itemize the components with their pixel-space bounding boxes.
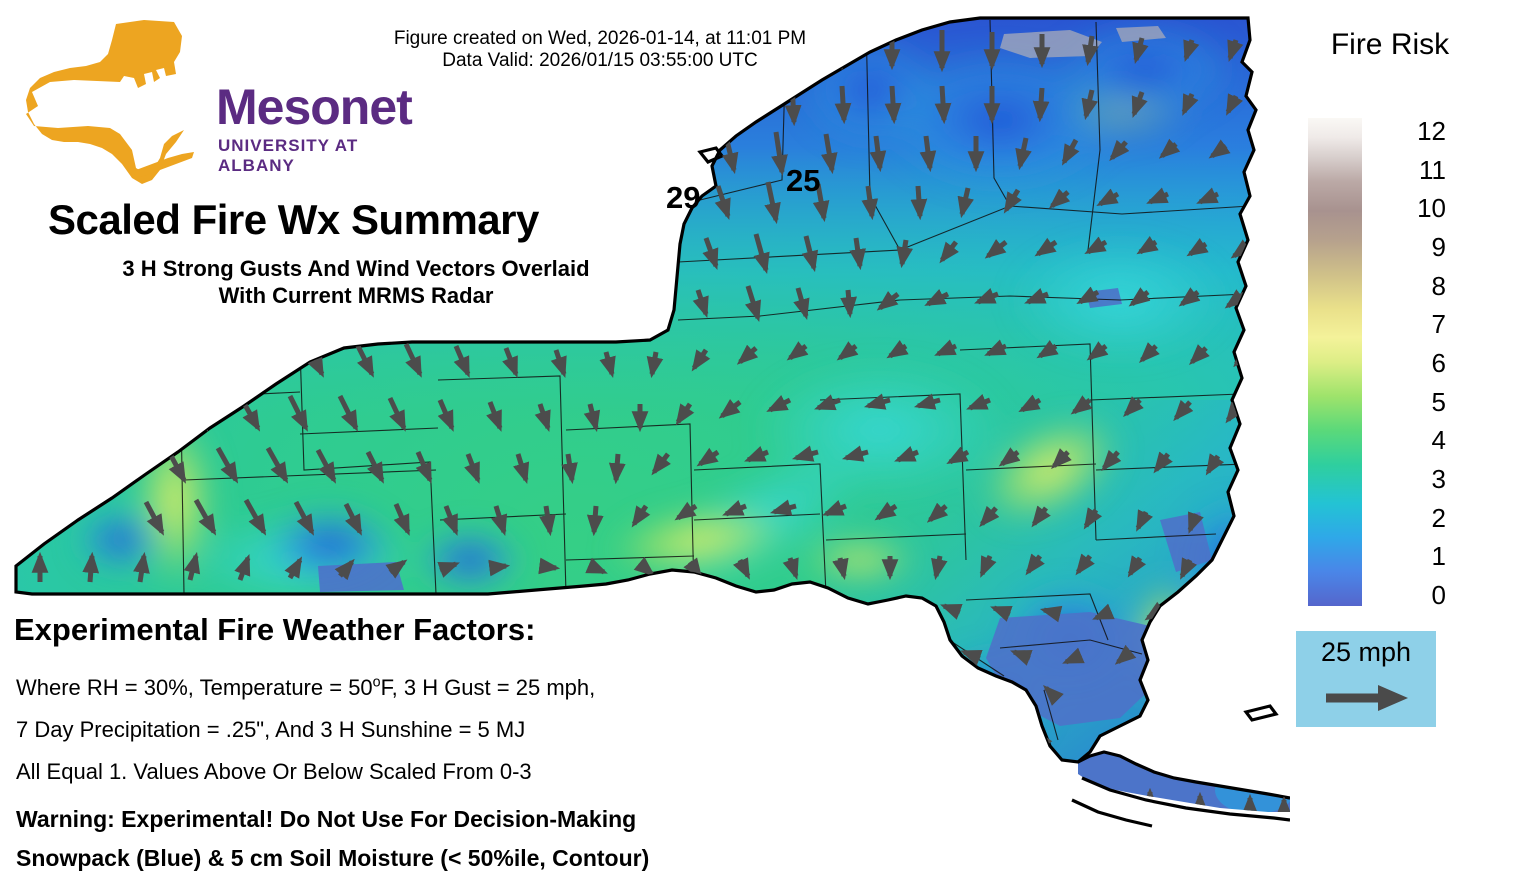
colorbar-tick-11: 11 [1419, 157, 1446, 183]
colorbar-title: Fire Risk [1290, 28, 1490, 62]
figure-timestamp: Figure created on Wed, 2026-01-14, at 11… [330, 28, 870, 72]
fire-risk-colorbar [1308, 118, 1362, 606]
gust-label-29: 29 [666, 180, 700, 216]
factors-line-3: All Equal 1. Values Above Or Below Scale… [16, 759, 532, 785]
colorbar-tick-2: 2 [1432, 505, 1446, 531]
page-title: Scaled Fire Wx Summary [48, 196, 539, 244]
wind-arrow-icon [1324, 683, 1410, 713]
colorbar-tick-6: 6 [1432, 350, 1446, 376]
factors-heading: Experimental Fire Weather Factors: [14, 612, 535, 648]
gust-label-25: 25 [786, 163, 820, 199]
subtitle-line-2: With Current MRMS Radar [46, 282, 666, 309]
colorbar-tick-3: 3 [1432, 466, 1446, 492]
colorbar-tick-1: 1 [1432, 543, 1446, 569]
data-valid-line: Data Valid: 2026/01/15 03:55:00 UTC [330, 50, 870, 72]
colorbar-tick-9: 9 [1432, 234, 1446, 260]
figure-created-line: Figure created on Wed, 2026-01-14, at 11… [330, 28, 870, 50]
factors-line-1b: F, 3 H Gust = 25 mph, [381, 675, 596, 700]
subtitle-line-1: 3 H Strong Gusts And Wind Vectors Overla… [46, 255, 666, 282]
logo-nys-text: NYS [114, 83, 208, 138]
degree-superscript: o [373, 675, 381, 691]
colorbar-tick-4: 4 [1432, 427, 1446, 453]
colorbar-tick-10: 10 [1417, 195, 1446, 221]
logo-university-text: UNIVERSITY AT ALBANY [218, 136, 394, 176]
warning-line-2: Snowpack (Blue) & 5 cm Soil Moisture (< … [16, 845, 649, 872]
warning-line-1: Warning: Experimental! Do Not Use For De… [16, 806, 636, 833]
colorbar-tick-labels: 1211109876543210 [1400, 112, 1460, 612]
colorbar-tick-8: 8 [1432, 273, 1446, 299]
factors-line-1: Where RH = 30%, Temperature = 50oF, 3 H … [16, 675, 595, 701]
colorbar-tick-7: 7 [1432, 311, 1446, 337]
wind-legend-label: 25 mph [1296, 637, 1436, 668]
colorbar-tick-12: 12 [1417, 118, 1446, 144]
nys-mesonet-logo: NYS Mesonet UNIVERSITY AT ALBANY [24, 18, 394, 188]
page-subtitle: 3 H Strong Gusts And Wind Vectors Overla… [46, 255, 666, 309]
wind-speed-legend: 25 mph [1296, 631, 1436, 727]
factors-line-1a: Where RH = 30%, Temperature = 50 [16, 675, 373, 700]
colorbar-tick-0: 0 [1432, 582, 1446, 608]
colorbar-tick-5: 5 [1432, 389, 1446, 415]
logo-mesonet-text: Mesonet [216, 78, 412, 136]
factors-line-2: 7 Day Precipitation = .25", And 3 H Suns… [16, 717, 525, 743]
